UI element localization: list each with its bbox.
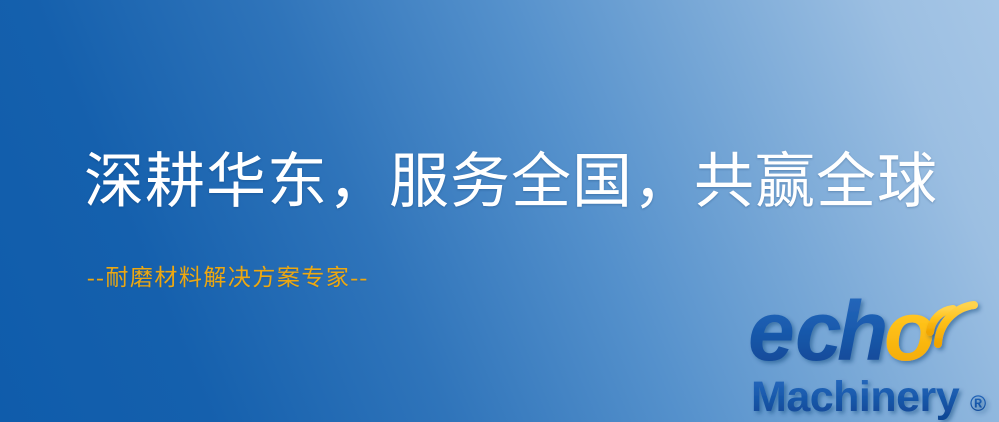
svg-text:e: e (748, 296, 795, 378)
hero-banner: 深耕华东，服务全国，共赢全球 --耐磨材料解决方案专家-- (0, 0, 999, 422)
logo-letter-h: h (837, 296, 888, 378)
logo-letter-e: e (748, 296, 795, 378)
logo-letter-o: o (884, 296, 935, 378)
svg-text:c: c (795, 296, 842, 378)
brand-logo[interactable]: e c h o Ma (748, 296, 999, 422)
banner-subtitle: --耐磨材料解决方案专家-- (87, 266, 369, 289)
page-title: 深耕华东，服务全国，共赢全球 (84, 152, 938, 212)
logo-letter-c: c (795, 296, 842, 378)
logo-tagline: Machinery (751, 373, 960, 421)
logo-trademark-symbol: ® (970, 391, 986, 416)
logo-svg: e c h o Ma (748, 296, 999, 422)
echo-wave-arcs-icon (930, 305, 974, 344)
svg-text:o: o (884, 296, 935, 378)
svg-text:h: h (837, 296, 888, 378)
